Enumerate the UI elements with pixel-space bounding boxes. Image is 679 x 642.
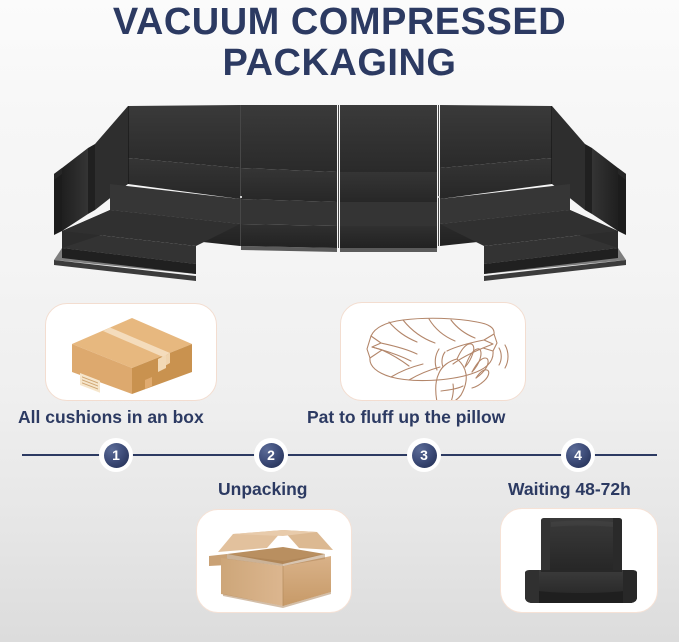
timeline-step-4[interactable]: 4	[561, 438, 595, 472]
seat-cushion-module-3	[340, 202, 437, 248]
back-cushion-module-1	[128, 105, 240, 199]
center-base-shadow-b	[340, 248, 437, 252]
seat-cushion-module-2	[241, 199, 337, 248]
back-cushion-module-2	[241, 105, 337, 202]
seam-highlight-a	[240, 196, 242, 198]
page-title-line-1: VACUUM COMPRESSED	[0, 2, 679, 43]
timeline-step-3[interactable]: 3	[407, 438, 441, 472]
timeline-step-2-number: 2	[259, 443, 284, 468]
page-title: VACUUM COMPRESSED PACKAGING	[0, 2, 679, 84]
back-cushion-module-4	[440, 105, 552, 199]
timeline-step-2[interactable]: 2	[254, 438, 288, 472]
infographic-page: VACUUM COMPRESSED PACKAGING	[0, 0, 679, 642]
card-pat-to-fluff	[340, 302, 526, 401]
card-label-pat-to-fluff: Pat to fluff up the pillow	[307, 407, 505, 428]
sectional-sofa-illustration	[0, 96, 679, 294]
card-unpacking	[196, 509, 352, 613]
card-all-cushions-in-box	[45, 303, 217, 401]
page-title-line-2: PACKAGING	[0, 43, 679, 84]
timeline-step-3-number: 3	[412, 443, 437, 468]
closed-cardboard-box-icon	[46, 304, 217, 401]
card-label-unpacking: Unpacking	[218, 479, 307, 500]
steps-timeline: 1 2 3 4	[0, 438, 679, 472]
black-cushion-set-icon	[501, 509, 658, 613]
timeline-step-1-number: 1	[104, 443, 129, 468]
open-cardboard-box-icon	[197, 510, 352, 613]
seam-highlight-b	[438, 196, 440, 198]
card-waiting	[500, 508, 658, 613]
back-cushion-module-3	[340, 105, 437, 202]
card-label-all-cushions-in-box: All cushions in an box	[18, 407, 204, 428]
hand-patting-pillow-icon	[341, 303, 526, 401]
card-label-waiting: Waiting 48-72h	[508, 479, 631, 500]
timeline-step-1[interactable]: 1	[99, 438, 133, 472]
timeline-step-4-number: 4	[566, 443, 591, 468]
